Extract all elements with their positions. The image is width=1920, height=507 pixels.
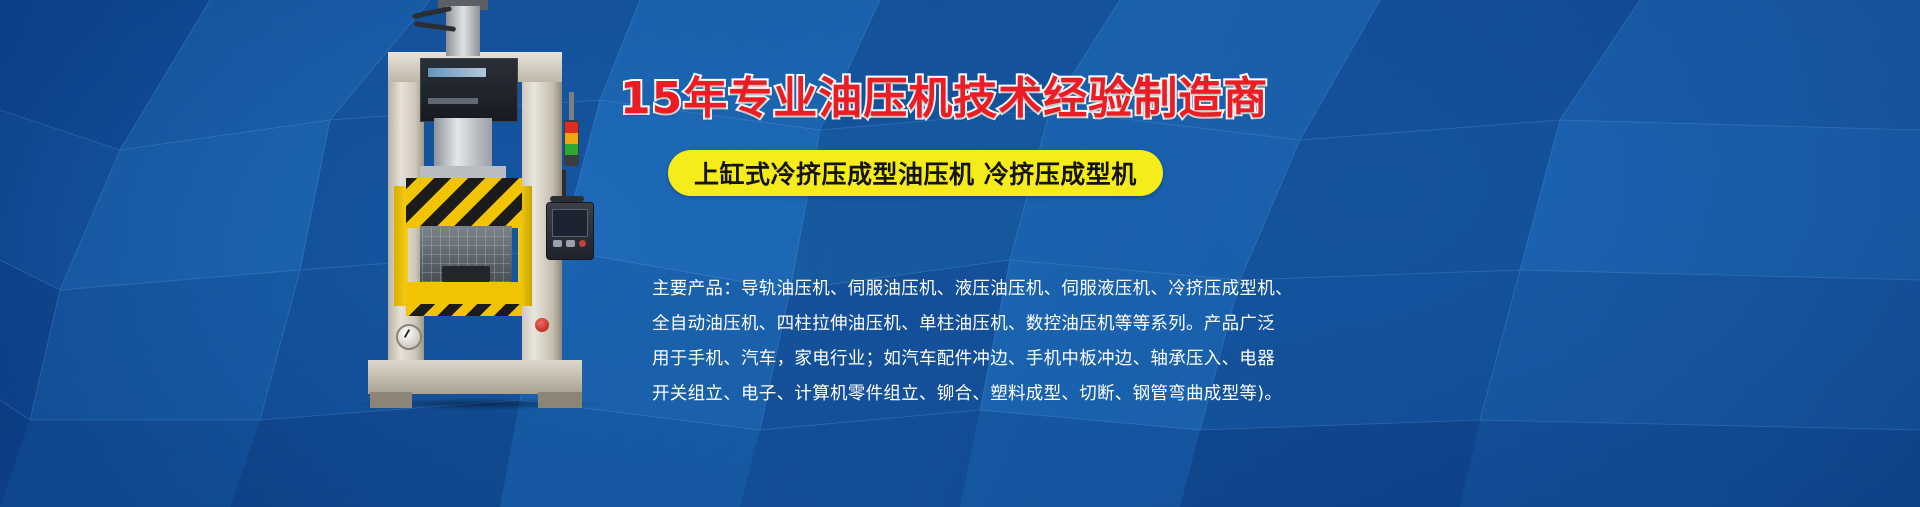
machine-foot-right [538,392,582,408]
description-block: 主要产品：导轨油压机、伺服油压机、液压油压机、伺服液压机、冷挤压成型机、 全自动… [652,272,1352,412]
machine-ram [434,118,492,170]
subtitle-pill-text: 上缸式冷挤压成型油压机 冷挤压成型机 [694,155,1137,191]
hmi-screen [552,209,588,237]
hazard-striped-platen [406,178,522,226]
description-line: 主要产品：导轨油压机、伺服油压机、液压油压机、伺服液压机、冷挤压成型机、 [652,272,1352,307]
stack-light-red-icon [565,122,578,133]
promo-banner: 15年专业油压机技术经验制造商 上缸式冷挤压成型油压机 冷挤压成型机 主要产品：… [0,0,1920,507]
machine-base-beam [368,360,582,394]
description-line: 用于手机、汽车，家电行业；如汽车配件冲边、手机中板冲边、轴承压入、电器 [652,342,1352,377]
bolster-hazard-stripe [406,304,522,316]
machine-foot-left [370,392,412,408]
pressure-gauge-icon [396,324,422,350]
panel-model-text [428,98,478,104]
stack-light-green-icon [565,144,578,155]
die-tooling [442,266,490,282]
emergency-stop-button-icon [535,318,549,332]
description-line: 全自动油压机、四柱拉伸油压机、单柱油压机、数控油压机等等系列。产品广泛 [652,307,1352,342]
hmi-stop-button-icon [579,240,586,247]
hmi-button-icon [553,240,562,247]
subtitle-pill: 上缸式冷挤压成型油压机 冷挤压成型机 [668,150,1163,196]
banner-headline: 15年专业油压机技术经验制造商 [620,70,1220,128]
panel-brand-logo [428,68,486,77]
stack-light-amber-icon [565,133,578,144]
description-line: 开关组立、电子、计算机零件组立、铆合、塑料成型、切断、钢管弯曲成型等)。 [652,377,1352,412]
hydraulic-press-photo [350,0,640,407]
hmi-button-icon [566,240,575,247]
